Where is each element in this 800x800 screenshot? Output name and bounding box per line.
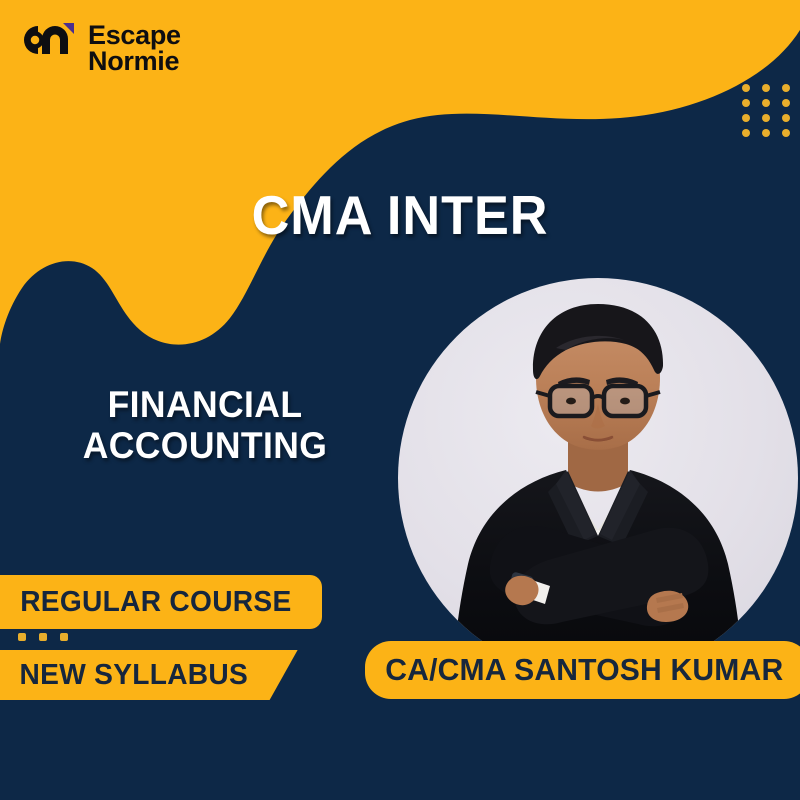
separator-dot (18, 633, 26, 641)
subject-line-1: FINANCIAL (47, 385, 364, 426)
badge-regular-course[interactable]: REGULAR COURSE (0, 575, 322, 629)
separator-dot (39, 633, 47, 641)
dot-grid-decoration (742, 84, 790, 137)
badge-new-syllabus[interactable]: NEW SYLLABUS (0, 650, 298, 700)
brand-name-line2: Normie (88, 48, 181, 74)
badge-new-syllabus-label: NEW SYLLABUS (20, 659, 249, 692)
grid-dot (742, 99, 750, 107)
portrait-backdrop-circle (398, 278, 798, 678)
brand-name: Escape Normie (88, 20, 181, 74)
grid-dot (782, 84, 790, 92)
brand-logo[interactable]: Escape Normie (18, 20, 181, 74)
badge-separator-dots (18, 633, 68, 641)
portrait-figure-illustration (398, 278, 798, 678)
instructor-portrait (398, 278, 798, 678)
grid-dot (782, 99, 790, 107)
instructor-name-banner: CA/CMA SANTOSH KUMAR (365, 641, 800, 699)
grid-dot (742, 129, 750, 137)
subject-line-2: ACCOUNTING (47, 426, 364, 467)
course-title-block: CMA INTER (0, 183, 800, 247)
en-monogram-icon (18, 20, 80, 64)
grid-dot (762, 129, 770, 137)
grid-dot (762, 114, 770, 122)
course-promo-poster: Escape Normie CMA INTER FINANCIAL ACCOUN… (0, 0, 800, 800)
instructor-name: CA/CMA SANTOSH KUMAR (386, 652, 790, 688)
grid-dot (782, 129, 790, 137)
badge-regular-course-label: REGULAR COURSE (20, 586, 291, 619)
grid-dot (782, 114, 790, 122)
grid-dot (762, 84, 770, 92)
grid-dot (742, 114, 750, 122)
separator-dot (60, 633, 68, 641)
brand-name-line1: Escape (88, 22, 181, 48)
subject-block: FINANCIAL ACCOUNTING (40, 385, 370, 466)
page-title: CMA INTER (20, 183, 780, 247)
grid-dot (742, 84, 750, 92)
grid-dot (762, 99, 770, 107)
